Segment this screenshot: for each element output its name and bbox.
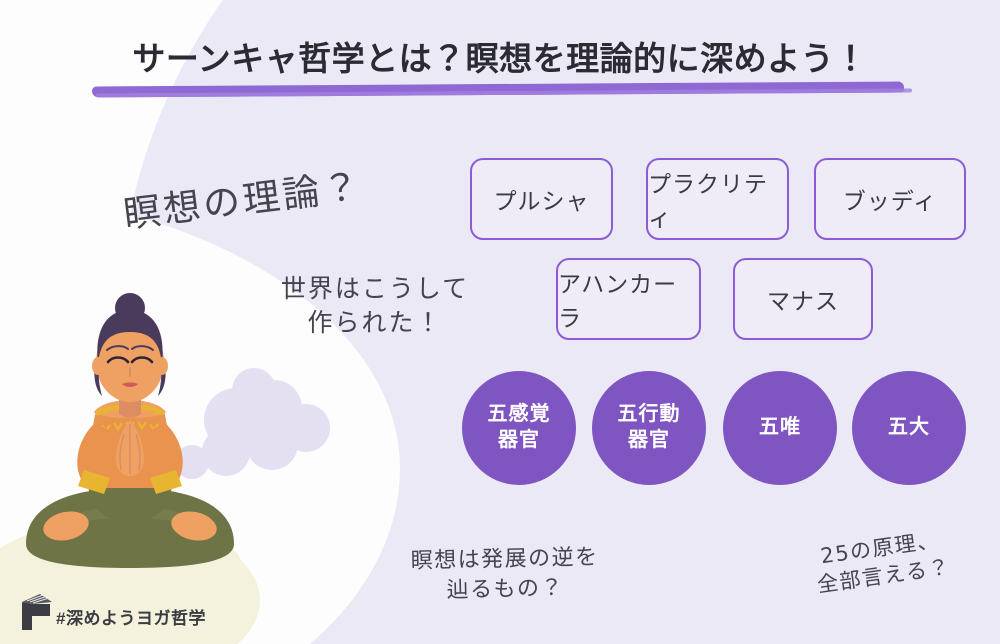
page-title-text: サーンキャ哲学とは？瞑想を理論的に深めよう！ (132, 32, 867, 80)
tattva-circle-3[interactable]: 五唯 (723, 371, 837, 485)
term-box-label: マナス (767, 282, 839, 316)
term-box-5[interactable]: マナス (733, 258, 873, 340)
term-box-label: プルシャ (494, 182, 590, 216)
tattva-circle-label: 五大 (888, 415, 930, 441)
poster-canvas: サーンキャ哲学とは？瞑想を理論的に深めよう！ 瞑想の理論？ 世界はこうして 作ら… (0, 0, 1000, 644)
caption-world-created: 世界はこうして 作られた！ (250, 272, 500, 340)
term-box-label: プラクリティ (648, 165, 787, 233)
term-box-3[interactable]: ブッディ (814, 158, 966, 240)
book-icon (18, 592, 54, 632)
tattva-circle-1[interactable]: 五感覚 器官 (462, 371, 576, 485)
meditating-woman-illustration (10, 292, 250, 592)
term-box-label: アハンカーラ (558, 265, 699, 333)
page-title: サーンキャ哲学とは？瞑想を理論的に深めよう！ (0, 32, 1000, 80)
term-box-label: ブッディ (843, 182, 937, 216)
caption-meditation-reverse: 瞑想は発展の逆を 辿るもの？ (379, 542, 630, 607)
tattva-circle-label: 五感覚 器官 (488, 402, 551, 453)
footer-hashtag-text: #深めようヨガ哲学 (56, 604, 206, 632)
tattva-circle-label: 五唯 (759, 415, 801, 441)
term-box-2[interactable]: プラクリティ (646, 158, 789, 240)
term-box-1[interactable]: プルシャ (470, 158, 613, 240)
term-box-4[interactable]: アハンカーラ (556, 258, 701, 340)
tattva-circle-label: 五行動 器官 (618, 402, 681, 453)
tattva-circle-2[interactable]: 五行動 器官 (592, 371, 706, 485)
footer-hashtag: #深めようヨガ哲学 (18, 592, 206, 632)
tattva-circle-4[interactable]: 五大 (852, 371, 966, 485)
